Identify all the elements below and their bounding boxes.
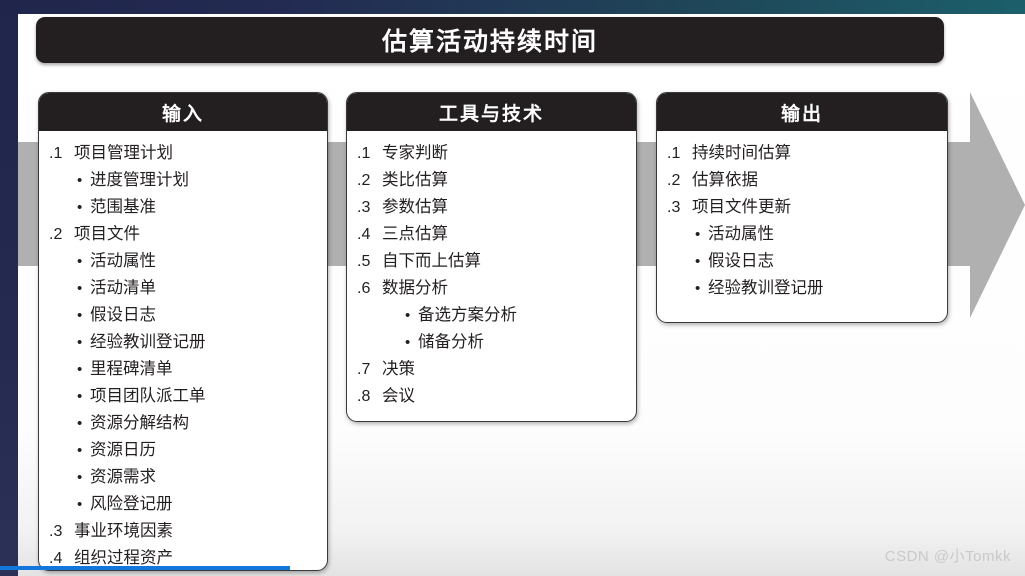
itto-item-outputs: .2估算依据 xyxy=(667,167,937,194)
slide-frame-top-band xyxy=(0,0,1025,14)
itto-box-inputs-header: 输入 xyxy=(39,93,327,131)
itto-item-number: .1 xyxy=(49,141,71,167)
itto-item-inputs: •假设日志 xyxy=(49,302,317,329)
itto-item-number: .3 xyxy=(667,195,689,221)
itto-item-number: .2 xyxy=(357,168,379,194)
itto-item-inputs: •资源分解结构 xyxy=(49,410,317,437)
itto-item-inputs: .3事业环境因素 xyxy=(49,518,317,545)
slide-frame-left-band xyxy=(0,0,18,576)
bullet-icon: • xyxy=(77,357,90,383)
itto-item-inputs: •经验教训登记册 xyxy=(49,329,317,356)
itto-item-tools: .6数据分析 xyxy=(357,275,626,302)
itto-item-tools: .8会议 xyxy=(357,383,626,410)
right-arrow-icon xyxy=(962,86,1025,324)
itto-item-label: 项目文件更新 xyxy=(692,194,791,220)
watermark: CSDN @小Tomkk xyxy=(885,545,1011,566)
itto-item-inputs: •资源需求 xyxy=(49,464,317,491)
itto-item-tools: •备选方案分析 xyxy=(357,302,626,329)
bullet-icon: • xyxy=(77,276,90,302)
bullet-icon: • xyxy=(77,411,90,437)
itto-item-label: 活动属性 xyxy=(90,248,156,274)
itto-item-label: 资源需求 xyxy=(90,464,156,490)
itto-item-label: 经验教训登记册 xyxy=(708,275,824,301)
bullet-icon: • xyxy=(77,330,90,356)
itto-item-label: 假设日志 xyxy=(90,302,156,328)
itto-item-label: 项目管理计划 xyxy=(74,140,173,166)
itto-item-inputs: •活动属性 xyxy=(49,248,317,275)
itto-item-label: 三点估算 xyxy=(382,221,448,247)
itto-item-outputs: •假设日志 xyxy=(667,248,937,275)
itto-box-tools-header-text: 工具与技术 xyxy=(439,99,544,126)
page-title-text: 估算活动持续时间 xyxy=(382,22,598,58)
itto-box-inputs-header-text: 输入 xyxy=(162,99,204,126)
itto-item-inputs: •进度管理计划 xyxy=(49,167,317,194)
itto-item-number: .4 xyxy=(357,222,379,248)
itto-box-inputs: 输入 .1项目管理计划•进度管理计划•范围基准.2项目文件•活动属性•活动清单•… xyxy=(38,92,328,571)
bullet-icon: • xyxy=(77,492,90,518)
bullet-icon: • xyxy=(77,438,90,464)
page-title: 估算活动持续时间 xyxy=(36,17,944,63)
itto-item-number: .1 xyxy=(667,141,689,167)
itto-item-tools: .7决策 xyxy=(357,356,626,383)
slide-progress-fill xyxy=(0,566,290,570)
itto-box-inputs-body: .1项目管理计划•进度管理计划•范围基准.2项目文件•活动属性•活动清单•假设日… xyxy=(39,131,327,571)
itto-item-tools: .2类比估算 xyxy=(357,167,626,194)
itto-item-label: 进度管理计划 xyxy=(90,167,189,193)
itto-box-tools: 工具与技术 .1专家判断.2类比估算.3参数估算.4三点估算.5自下而上估算.6… xyxy=(346,92,637,422)
bullet-icon: • xyxy=(695,249,708,275)
itto-item-number: .3 xyxy=(357,195,379,221)
itto-item-label: 经验教训登记册 xyxy=(90,329,206,355)
itto-item-tools: .3参数估算 xyxy=(357,194,626,221)
itto-item-label: 资源分解结构 xyxy=(90,410,189,436)
itto-item-label: 假设日志 xyxy=(708,248,774,274)
itto-item-inputs: .1项目管理计划 xyxy=(49,140,317,167)
itto-box-tools-body: .1专家判断.2类比估算.3参数估算.4三点估算.5自下而上估算.6数据分析•备… xyxy=(347,131,636,420)
itto-item-number: .6 xyxy=(357,276,379,302)
itto-item-label: 持续时间估算 xyxy=(692,140,791,166)
bullet-icon: • xyxy=(405,330,418,356)
bullet-icon: • xyxy=(695,222,708,248)
bullet-icon: • xyxy=(77,249,90,275)
itto-item-tools: .5自下而上估算 xyxy=(357,248,626,275)
itto-box-outputs-header-text: 输出 xyxy=(781,99,823,126)
bullet-icon: • xyxy=(77,168,90,194)
itto-item-tools: .1专家判断 xyxy=(357,140,626,167)
itto-item-outputs: •经验教训登记册 xyxy=(667,275,937,302)
itto-item-label: 会议 xyxy=(382,383,415,409)
itto-box-outputs-header: 输出 xyxy=(657,93,947,131)
itto-item-number: .1 xyxy=(357,141,379,167)
itto-item-label: 估算依据 xyxy=(692,167,758,193)
itto-item-label: 活动清单 xyxy=(90,275,156,301)
itto-item-outputs: .1持续时间估算 xyxy=(667,140,937,167)
itto-item-number: .7 xyxy=(357,357,379,383)
itto-item-inputs: •风险登记册 xyxy=(49,491,317,518)
itto-item-number: .2 xyxy=(49,222,71,248)
itto-item-label: 资源日历 xyxy=(90,437,156,463)
itto-item-label: 项目文件 xyxy=(74,221,140,247)
itto-item-inputs: •范围基准 xyxy=(49,194,317,221)
itto-item-label: 参数估算 xyxy=(382,194,448,220)
itto-item-label: 数据分析 xyxy=(382,275,448,301)
itto-item-tools: •储备分析 xyxy=(357,329,626,356)
itto-item-number: .8 xyxy=(357,384,379,410)
bullet-icon: • xyxy=(77,465,90,491)
itto-item-number: .2 xyxy=(667,168,689,194)
itto-item-number: .5 xyxy=(357,249,379,275)
bullet-icon: • xyxy=(77,384,90,410)
itto-item-inputs: •资源日历 xyxy=(49,437,317,464)
itto-item-label: 活动属性 xyxy=(708,221,774,247)
itto-item-label: 决策 xyxy=(382,356,415,382)
itto-box-tools-header: 工具与技术 xyxy=(347,93,636,131)
itto-item-label: 储备分析 xyxy=(418,329,484,355)
itto-item-label: 类比估算 xyxy=(382,167,448,193)
itto-item-inputs: •项目团队派工单 xyxy=(49,383,317,410)
itto-item-label: 备选方案分析 xyxy=(418,302,517,328)
slide-canvas: 估算活动持续时间 输入 .1项目管理计划•进度管理计划•范围基准.2项目文件•活… xyxy=(0,0,1025,576)
itto-box-outputs-body: .1持续时间估算.2估算依据.3项目文件更新•活动属性•假设日志•经验教训登记册 xyxy=(657,131,947,312)
bullet-icon: • xyxy=(405,303,418,329)
itto-item-label: 里程碑清单 xyxy=(90,356,173,382)
itto-item-number: .3 xyxy=(49,519,71,545)
itto-item-label: 范围基准 xyxy=(90,194,156,220)
bullet-icon: • xyxy=(695,276,708,302)
itto-item-inputs: .2项目文件 xyxy=(49,221,317,248)
itto-item-inputs: •里程碑清单 xyxy=(49,356,317,383)
bullet-icon: • xyxy=(77,303,90,329)
itto-item-label: 项目团队派工单 xyxy=(90,383,206,409)
itto-item-label: 自下而上估算 xyxy=(382,248,481,274)
itto-item-inputs: •活动清单 xyxy=(49,275,317,302)
itto-item-label: 专家判断 xyxy=(382,140,448,166)
itto-item-outputs: .3项目文件更新 xyxy=(667,194,937,221)
bullet-icon: • xyxy=(77,195,90,221)
itto-item-label: 风险登记册 xyxy=(90,491,173,517)
itto-item-label: 事业环境因素 xyxy=(74,518,173,544)
itto-item-tools: .4三点估算 xyxy=(357,221,626,248)
itto-box-outputs: 输出 .1持续时间估算.2估算依据.3项目文件更新•活动属性•假设日志•经验教训… xyxy=(656,92,948,323)
itto-item-outputs: •活动属性 xyxy=(667,221,937,248)
